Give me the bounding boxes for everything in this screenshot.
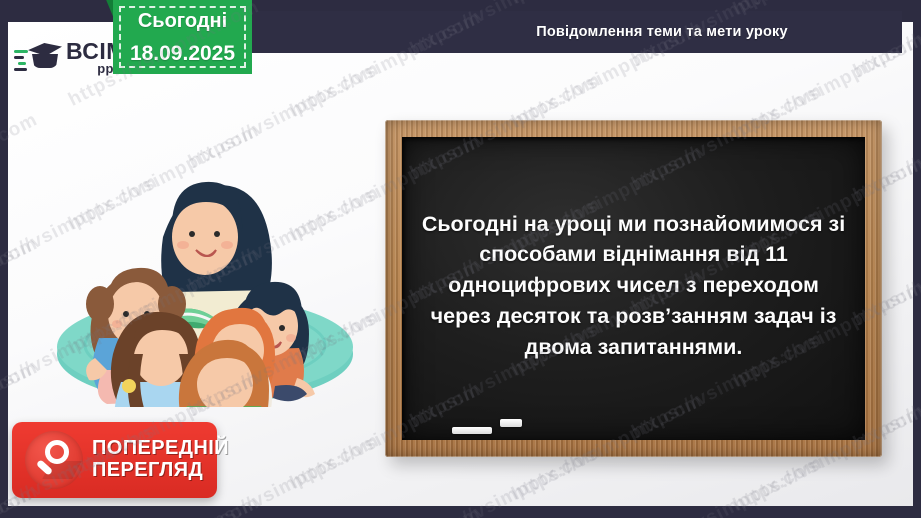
graduation-cap-icon (14, 37, 64, 77)
chalk-stick-short (500, 419, 522, 427)
preview-badge-line2: ПЕРЕГЛЯД (92, 460, 229, 482)
preview-badge-label: ПОПЕРЕДНІЙ ПЕРЕГЛЯД (92, 438, 229, 481)
date-badge-dashed-border (119, 6, 246, 68)
preview-badge-line1: ПОПЕРЕДНІЙ (92, 438, 229, 460)
date-badge: Сьогодні 18.09.2025 (113, 0, 252, 74)
chalkboard-surface: Сьогодні на уроці ми познайомимося зі сп… (402, 137, 865, 440)
slide-canvas: Сьогодні на уроці ми познайомимося зі сп… (8, 22, 913, 506)
lesson-objective-text: Сьогодні на уроці ми познайомимося зі сп… (402, 203, 865, 375)
slide-root: Сьогодні на уроці ми познайомимося зі сп… (0, 0, 921, 518)
chalk-stick-long (452, 427, 492, 434)
chalkboard: Сьогодні на уроці ми познайомимося зі сп… (385, 120, 882, 457)
preview-badge[interactable]: ПОПЕРЕДНІЙ ПЕРЕГЛЯД (12, 422, 217, 498)
teacher-reading-to-children-illustration (33, 142, 378, 407)
page-title: Повідомлення теми та мети уроку (356, 24, 788, 40)
slide-header-bar: Повідомлення теми та мети уроку (242, 11, 902, 53)
magnifier-icon (25, 431, 83, 489)
